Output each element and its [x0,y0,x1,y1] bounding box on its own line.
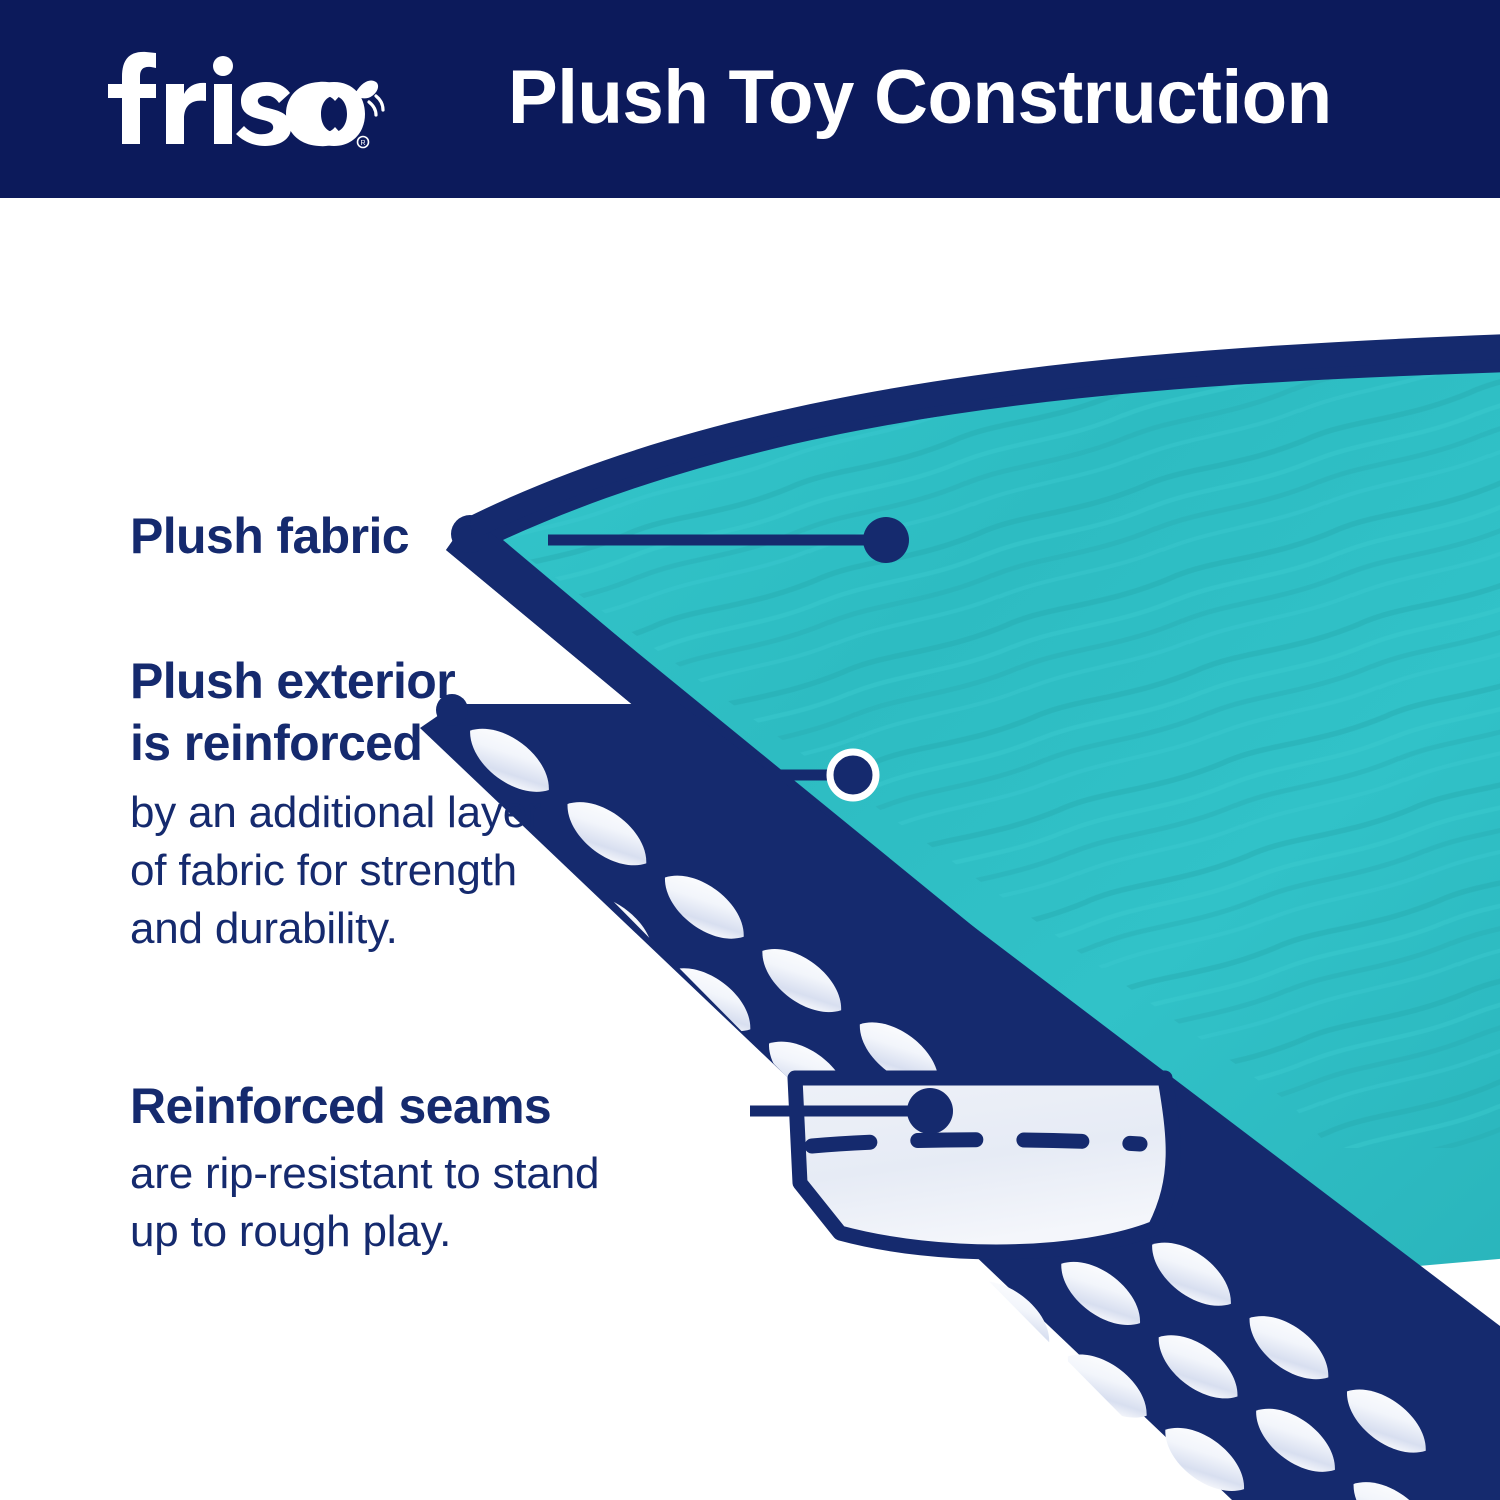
infographic-page: R Plush Toy Construction [0,0,1500,1500]
frisco-logo: R [88,44,388,156]
callout-plush-fabric: Plush fabric [130,505,590,567]
callout-reinforced-seams-body: are rip-resistant to stand up to rough p… [130,1145,810,1261]
svg-text:R: R [360,140,365,147]
seam-flap-layer [795,1078,1173,1252]
callout-reinforced-seams-heading: Reinforced seams [130,1075,810,1137]
callout-reinforced-seams: Reinforced seams are rip-resistant to st… [130,1075,810,1261]
callout-reinforced-exterior: Plush exterior is reinforced by an addit… [130,650,730,958]
header-bar: R Plush Toy Construction [0,0,1500,198]
callout-reinforced-exterior-heading: Plush exterior is reinforced [130,650,730,774]
callout-reinforced-exterior-body: by an additional layer of fabric for str… [130,784,730,958]
callout-plush-fabric-heading: Plush fabric [130,505,590,567]
page-title: Plush Toy Construction [508,46,1390,150]
